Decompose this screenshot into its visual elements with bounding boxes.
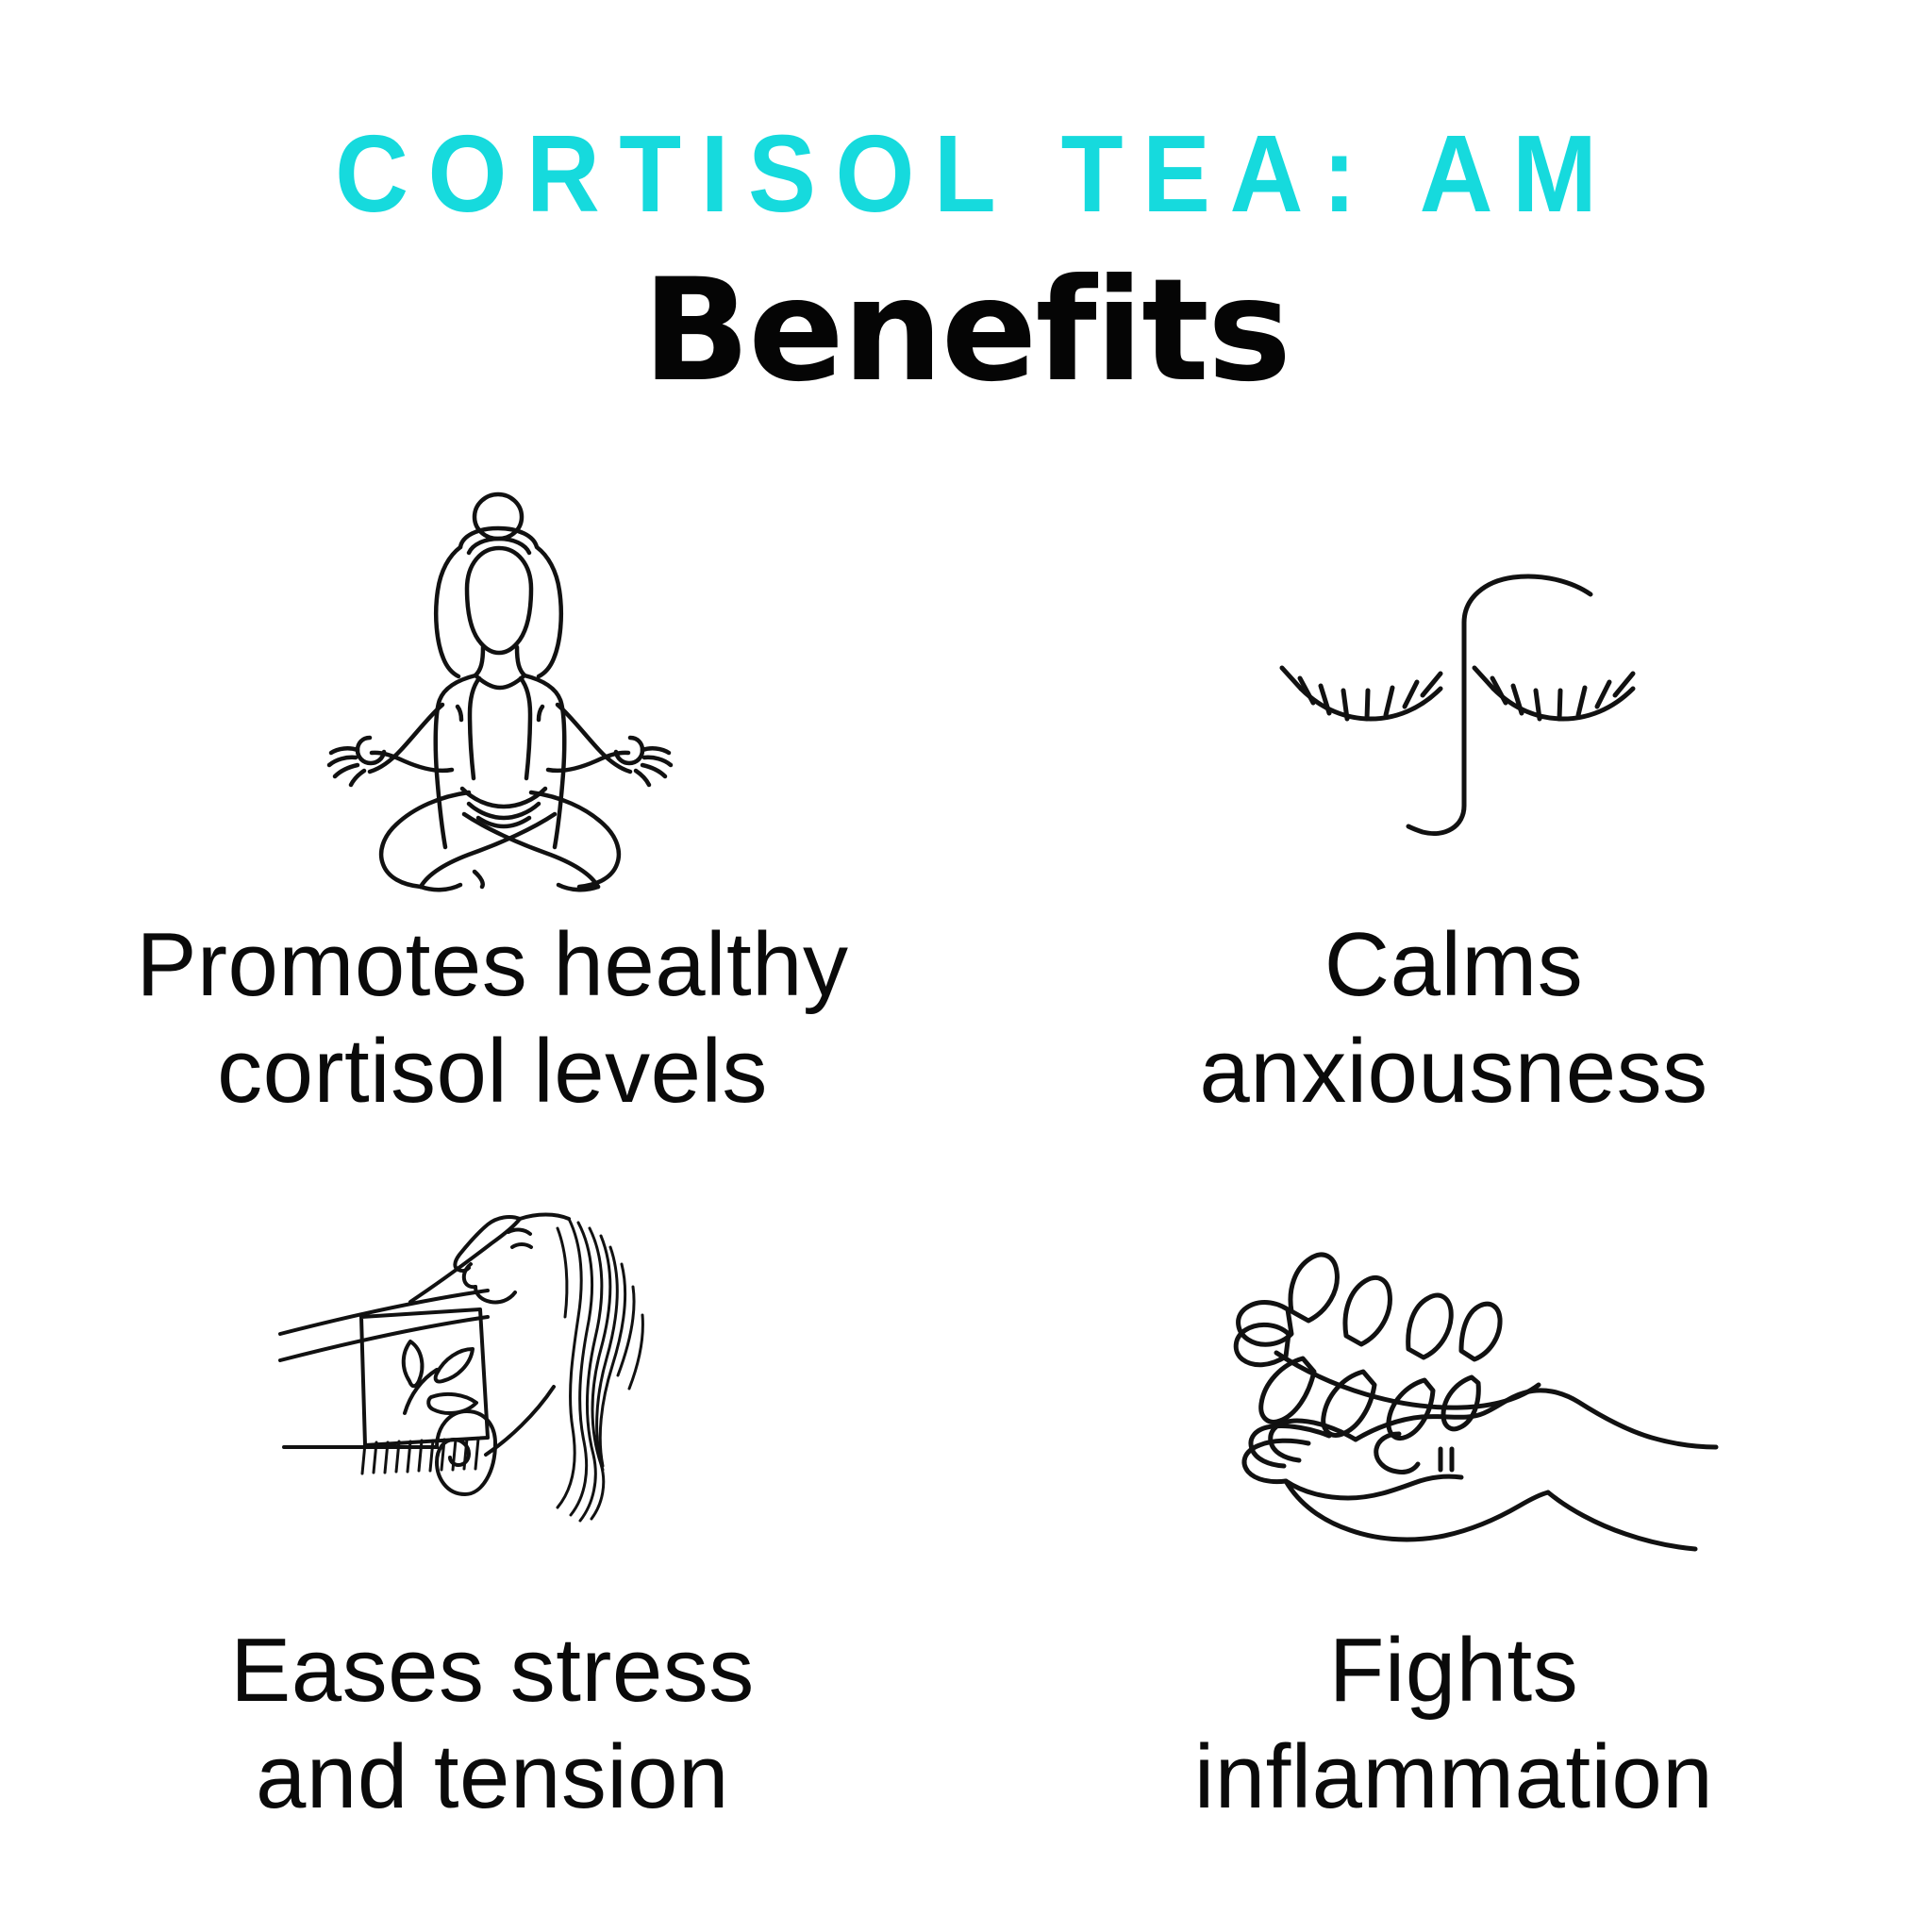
benefit-item-fights-inflammation: Fights inflammation (966, 1211, 1932, 1932)
product-kicker: CORTISOL TEA: AM (68, 119, 1865, 228)
header: CORTISOL TEA: AM Benefits (0, 0, 1932, 402)
benefit-caption: Eases stress and tension (230, 1617, 755, 1831)
open-hand-holding-leaf-branch-icon (1004, 1211, 1904, 1589)
benefit-item-calms-anxiousness: Calms anxiousness (966, 491, 1932, 1211)
benefits-infographic: CORTISOL TEA: AM Benefits (0, 0, 1932, 1932)
spa-woman-towel-rail-icon (57, 1211, 928, 1589)
benefit-caption: Calms anxiousness (1199, 911, 1707, 1125)
page-title: Benefits (0, 260, 1932, 402)
benefit-caption: Fights inflammation (1194, 1617, 1713, 1831)
benefit-item-promotes-healthy-cortisol-levels: Promotes healthy cortisol levels (0, 491, 966, 1211)
benefits-grid: Promotes healthy cortisol levels (0, 491, 1932, 1932)
closed-eyes-face-profile-icon (1004, 491, 1904, 887)
benefit-caption: Promotes healthy cortisol levels (136, 911, 848, 1125)
benefit-item-eases-stress-and-tension: Eases stress and tension (0, 1211, 966, 1932)
meditating-woman-lotus-pose-icon (57, 491, 928, 887)
